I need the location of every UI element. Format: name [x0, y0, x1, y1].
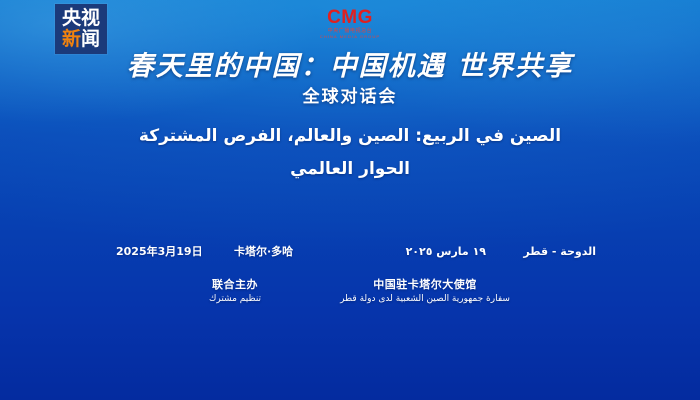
event-date-arabic: ١٩ مارس ٢٠٢٥ [366, 245, 486, 258]
page-subtitle-chinese: 全球对话会 [0, 88, 700, 107]
organizer-embassy-label-arabic: سفارة جمهورية الصين الشعبية لدى دولة قطر [310, 294, 540, 305]
page-title-arabic: الصين في الربيع: الصين والعالم، الفرص ال… [0, 126, 700, 147]
organizer-embassy: 中国驻卡塔尔大使馆 سفارة جمهورية الصين الشعبية لد… [310, 278, 540, 305]
cmg-logo: CMG 中央广播电视总台 CHINA MEDIA GROUP [0, 8, 700, 39]
organizer-host-label-arabic: تنظيم مشترك [160, 294, 310, 305]
organizer-host: 联合主办 تنظيم مشترك [160, 278, 310, 305]
cmg-subtitle-english: CHINA MEDIA GROUP [320, 35, 380, 39]
page-subtitle-arabic: الحوار العالمي [0, 159, 700, 180]
organizer-host-label-chinese: 联合主办 [160, 278, 310, 291]
title-block: 春天里的中国：中国机遇 世界共享 全球对话会 الصين في الربيع: … [0, 52, 700, 180]
event-place-arabic: الدوحة - قطر [486, 245, 596, 258]
organizer-embassy-label-chinese: 中国驻卡塔尔大使馆 [310, 278, 540, 291]
event-place-chinese: 卡塔尔·多哈 [234, 243, 366, 259]
page-title-chinese: 春天里的中国：中国机遇 世界共享 [0, 52, 700, 81]
event-backdrop-stage: 央 视 新 闻 CMG 中央广播电视总台 CHINA MEDIA GROUP 春… [0, 0, 700, 400]
organizers-row: 联合主办 تنظيم مشترك 中国驻卡塔尔大使馆 سفارة جمهورية… [0, 278, 700, 305]
cmg-wordmark: CMG [327, 8, 373, 27]
event-meta-row: 2025年3月19日 卡塔尔·多哈 ١٩ مارس ٢٠٢٥ الدوحة - … [0, 243, 700, 259]
event-date-chinese: 2025年3月19日 [104, 243, 234, 259]
